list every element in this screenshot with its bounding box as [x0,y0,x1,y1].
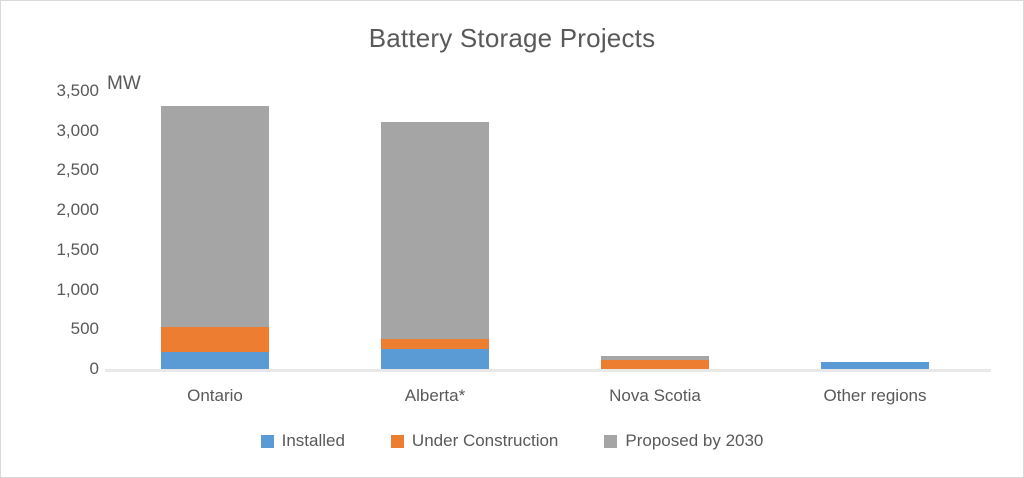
y-axis-tick-label: 1,000 [41,280,99,300]
legend-label: Proposed by 2030 [625,431,763,451]
bar-stack[interactable] [821,362,929,369]
legend-label: Installed [282,431,345,451]
plot-area [105,91,985,369]
bar-group [765,91,985,369]
bar-stack[interactable] [381,122,489,369]
x-axis-category-label: Other regions [765,386,985,406]
bar-segment[interactable] [161,352,269,369]
bar-segment[interactable] [161,106,269,327]
bar-stack[interactable] [161,106,269,369]
y-axis-tick-label: 2,500 [41,160,99,180]
bar-segment[interactable] [161,327,269,352]
chart-container: Battery Storage Projects MW 3,5003,0002,… [0,0,1024,478]
x-axis-line [105,369,991,372]
bar-segment[interactable] [601,360,709,369]
legend-label: Under Construction [412,431,558,451]
legend-color-swatch [261,435,274,448]
y-axis-tick-label: 3,500 [41,81,99,101]
bar-group [105,91,325,369]
legend-color-swatch [604,435,617,448]
bar-stack[interactable] [601,356,709,369]
x-axis-category-label: Alberta* [325,386,545,406]
bar-segment[interactable] [381,339,489,349]
y-axis-tick-label: 1,500 [41,240,99,260]
bar-segment[interactable] [821,362,929,369]
bar-group [545,91,765,369]
legend-color-swatch [391,435,404,448]
chart-legend: InstalledUnder ConstructionProposed by 2… [1,431,1023,451]
y-axis-tick-label: 2,000 [41,200,99,220]
x-axis-category-label: Ontario [105,386,325,406]
legend-item[interactable]: Installed [261,431,345,451]
bar-segment[interactable] [381,122,489,339]
bar-segment[interactable] [381,349,489,369]
y-axis-tick-labels: 3,5003,0002,5002,0001,5001,0005000 [37,91,99,369]
x-axis-category-labels: OntarioAlberta*Nova ScotiaOther regions [105,386,985,414]
y-axis-tick-label: 3,000 [41,121,99,141]
legend-item[interactable]: Proposed by 2030 [604,431,763,451]
y-axis-tick-label: 0 [41,359,99,379]
x-axis-category-label: Nova Scotia [545,386,765,406]
legend-item[interactable]: Under Construction [391,431,558,451]
chart-title: Battery Storage Projects [1,23,1023,54]
y-axis-tick-label: 500 [41,319,99,339]
bar-group [325,91,545,369]
